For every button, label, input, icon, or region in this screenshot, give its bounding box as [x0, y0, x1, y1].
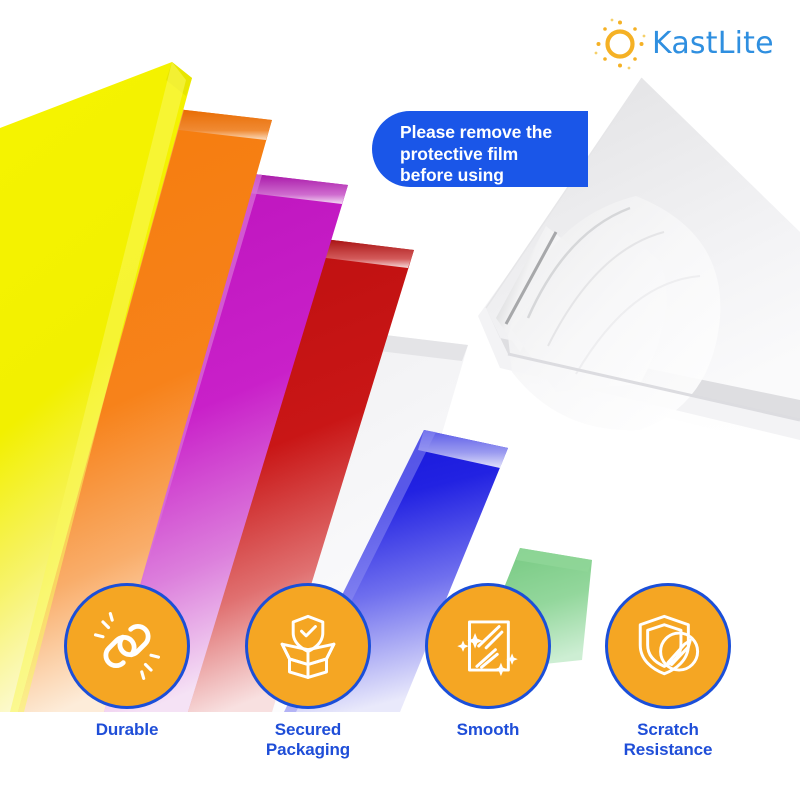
feature-icon-circle — [64, 583, 190, 709]
feature-label-line: Secured — [218, 720, 398, 740]
feature-label-line: Scratch — [578, 720, 758, 740]
shield-box-icon — [271, 609, 345, 683]
callout-line-1: Please remove the — [400, 122, 590, 144]
feature-label: Secured Packaging — [218, 720, 398, 760]
protective-film-callout: Please remove the protective film before… — [372, 111, 588, 187]
feature-badge-row: Durable — [0, 583, 800, 783]
sparkle-panel-icon — [451, 609, 525, 683]
feature-label-line: Packaging — [218, 740, 398, 760]
product-image: KastLite Please remove the protective fi… — [0, 0, 800, 800]
feature-label-line: Durable — [37, 720, 217, 740]
feature-secured-packaging[interactable]: Secured Packaging — [218, 583, 398, 760]
feature-label: Durable — [37, 720, 217, 740]
shield-knife-icon — [631, 609, 705, 683]
feature-durable[interactable]: Durable — [37, 583, 217, 740]
sun-icon — [592, 16, 648, 72]
feature-icon-circle — [605, 583, 731, 709]
callout-line-2: protective film — [400, 144, 590, 166]
callout-line-3: before using — [400, 165, 590, 187]
chain-link-icon — [90, 609, 164, 683]
feature-smooth[interactable]: Smooth — [398, 583, 578, 740]
feature-label-line: Resistance — [578, 740, 758, 760]
brand-logo: KastLite — [592, 16, 792, 72]
feature-label-line: Smooth — [398, 720, 578, 740]
callout-text: Please remove the protective film before… — [400, 122, 590, 187]
feature-icon-circle — [425, 583, 551, 709]
feature-icon-circle — [245, 583, 371, 709]
feature-label: Smooth — [398, 720, 578, 740]
brand-wordmark: KastLite — [652, 29, 774, 59]
feature-scratch-resistance[interactable]: Scratch Resistance — [578, 583, 758, 760]
feature-label: Scratch Resistance — [578, 720, 758, 760]
